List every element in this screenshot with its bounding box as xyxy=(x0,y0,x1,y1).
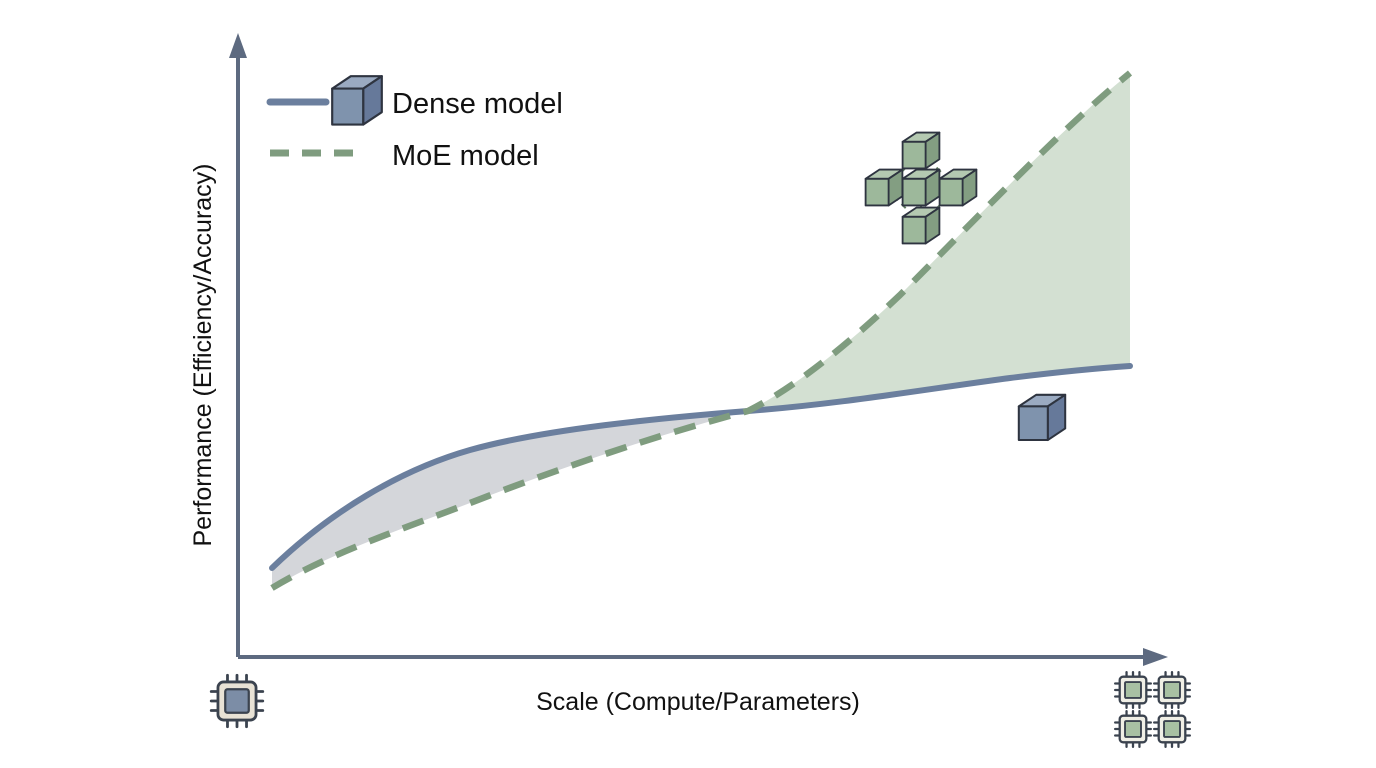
chip-icon-top-right xyxy=(1154,672,1190,708)
chip-icon-bottom-left xyxy=(1115,711,1151,747)
single-chip-icon xyxy=(211,675,263,727)
legend-label-dense: Dense model xyxy=(392,88,563,120)
legend-label-moe: MoE model xyxy=(392,140,539,172)
cube-icon-top xyxy=(903,133,940,169)
x-axis-title: Scale (Compute/Parameters) xyxy=(536,688,860,716)
legend-item-moe[interactable]: MoE model xyxy=(270,140,539,172)
dense-model-cube-icon xyxy=(1019,395,1065,440)
cube-icon-center xyxy=(903,170,940,206)
chip-icon-bottom-right xyxy=(1154,711,1190,747)
chip-icon-top-left xyxy=(1115,672,1151,708)
y-axis-title: Performance (Efficiency/Accuracy) xyxy=(189,164,217,547)
y-axis-arrowhead xyxy=(229,33,247,58)
x-axis-arrowhead xyxy=(1143,648,1168,666)
dense-model-curve xyxy=(272,366,1130,568)
cube-icon-bottom xyxy=(903,208,940,244)
cube-icon-right xyxy=(940,170,977,206)
scaling-laws-chart: Dense model MoE model xyxy=(0,0,1376,768)
cube-icon-left xyxy=(866,170,903,206)
legend-item-dense[interactable]: Dense model xyxy=(270,76,563,124)
moe-expert-cluster xyxy=(866,133,977,244)
multi-chip-grid-icon xyxy=(1115,672,1190,747)
chart-container: Dense model MoE model xyxy=(0,0,1376,768)
chart-legend: Dense model MoE model xyxy=(270,76,563,172)
cube-icon xyxy=(332,76,382,124)
